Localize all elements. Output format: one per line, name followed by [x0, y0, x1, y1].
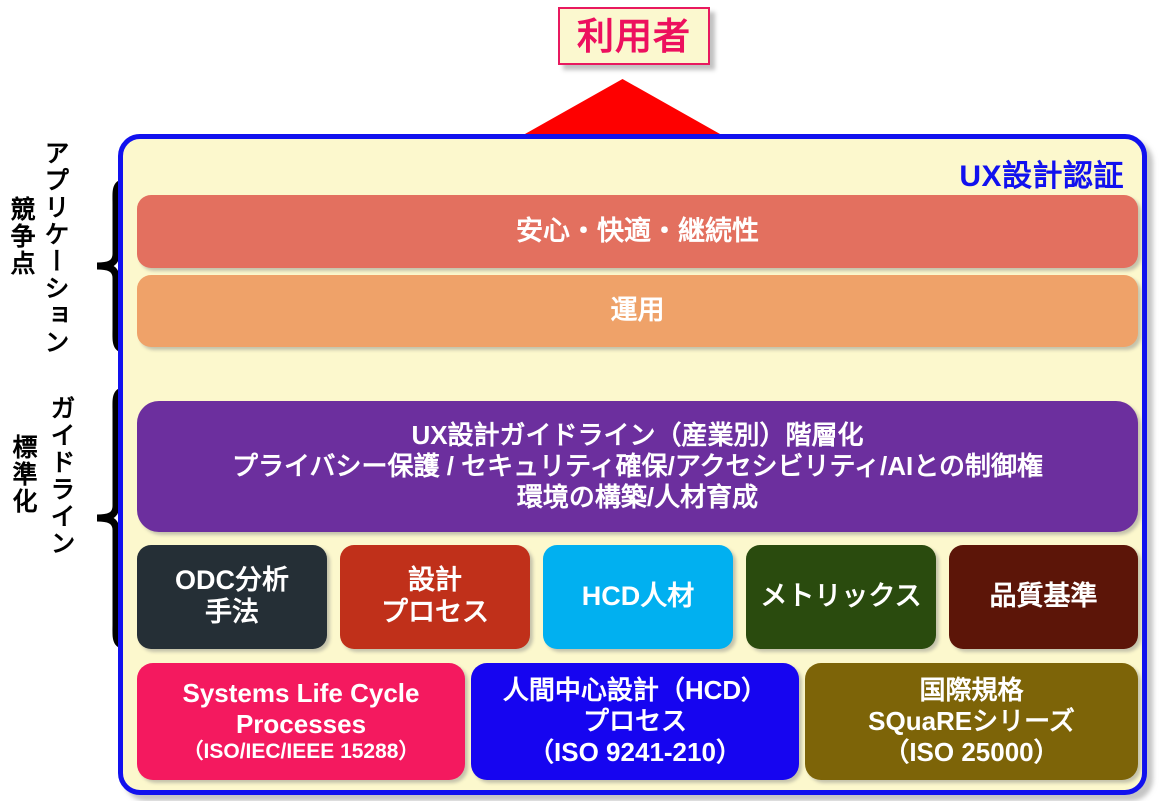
user-label: 利用者	[577, 18, 691, 55]
block-ux-design-guideline: UX設計ガイドライン（産業別）階層化 プライバシー保護 / セキュリティ確保/ア…	[137, 401, 1138, 532]
guideline-line-2: プライバシー保護 / セキュリティ確保/アクセシビリティ/AIとの制御権	[232, 451, 1043, 482]
label-guideline: ガイドライン	[48, 395, 73, 557]
ux-certification-frame: UX設計認証 安心・快適・継続性 運用 UX設計ガイドライン（産業別）階層化 プ…	[118, 134, 1147, 795]
method-box-odc-analysis: ODC分析 手法	[137, 545, 327, 649]
standard-box-human-centred-design: 人間中心設計（HCD） プロセス （ISO 9241-210）	[471, 663, 799, 780]
method-line-2: プロセス	[381, 597, 489, 629]
method-line-1: ODC分析	[175, 565, 289, 597]
standard-box-square-series: 国際規格 SQuaREシリーズ （ISO 25000）	[805, 663, 1138, 780]
method-box-design-process: 設計 プロセス	[340, 545, 530, 649]
guideline-line-3: 環境の構築/人材育成	[517, 482, 758, 513]
label-application: アプリケーション	[42, 140, 67, 356]
standard-line-2: SQuaREシリーズ	[868, 706, 1075, 737]
guideline-line-1: UX設計ガイドライン（産業別）階層化	[411, 420, 863, 451]
method-box-quality-standard: 品質基準	[949, 545, 1138, 649]
bar-label: 安心・快適・継続性	[516, 216, 759, 248]
standard-line-2: プロセス	[583, 706, 687, 737]
method-box-metrics: メトリックス	[746, 545, 936, 649]
diagram-canvas: 利用者 アプリケーション 競争点 ガイドライン 標準化 UX設計認証 安心・快適…	[0, 0, 1165, 801]
method-line-2: 手法	[205, 597, 259, 629]
method-line-1: HCD人材	[582, 581, 695, 613]
bar-label: 運用	[611, 295, 665, 327]
bar-anshin-kaiteki-keizokusei: 安心・快適・継続性	[137, 195, 1138, 268]
standard-line-3: （ISO/IEC/IEEE 15288）	[183, 740, 420, 765]
method-line-1: 設計	[408, 565, 462, 597]
standard-line-3: （ISO 25000）	[883, 737, 1059, 768]
standard-line-1: 国際規格	[919, 675, 1023, 706]
method-line-1: 品質基準	[990, 581, 1098, 613]
standard-line-1: 人間中心設計（HCD）	[503, 675, 767, 706]
label-standardization: 標準化	[10, 434, 35, 515]
method-line-1: メトリックス	[760, 581, 921, 613]
standard-box-systems-life-cycle-processes: Systems Life Cycle Processes （ISO/IEC/IE…	[137, 663, 465, 780]
user-box: 利用者	[558, 7, 710, 65]
standard-line-2: Processes	[236, 709, 366, 740]
standard-line-3: （ISO 9241-210）	[528, 737, 742, 768]
method-box-hcd-personnel: HCD人材	[543, 545, 733, 649]
standard-line-1: Systems Life Cycle	[182, 678, 419, 709]
label-competition-point: 競争点	[8, 196, 33, 277]
bar-unyo: 運用	[137, 275, 1138, 347]
frame-title: UX設計認証	[959, 151, 1124, 195]
